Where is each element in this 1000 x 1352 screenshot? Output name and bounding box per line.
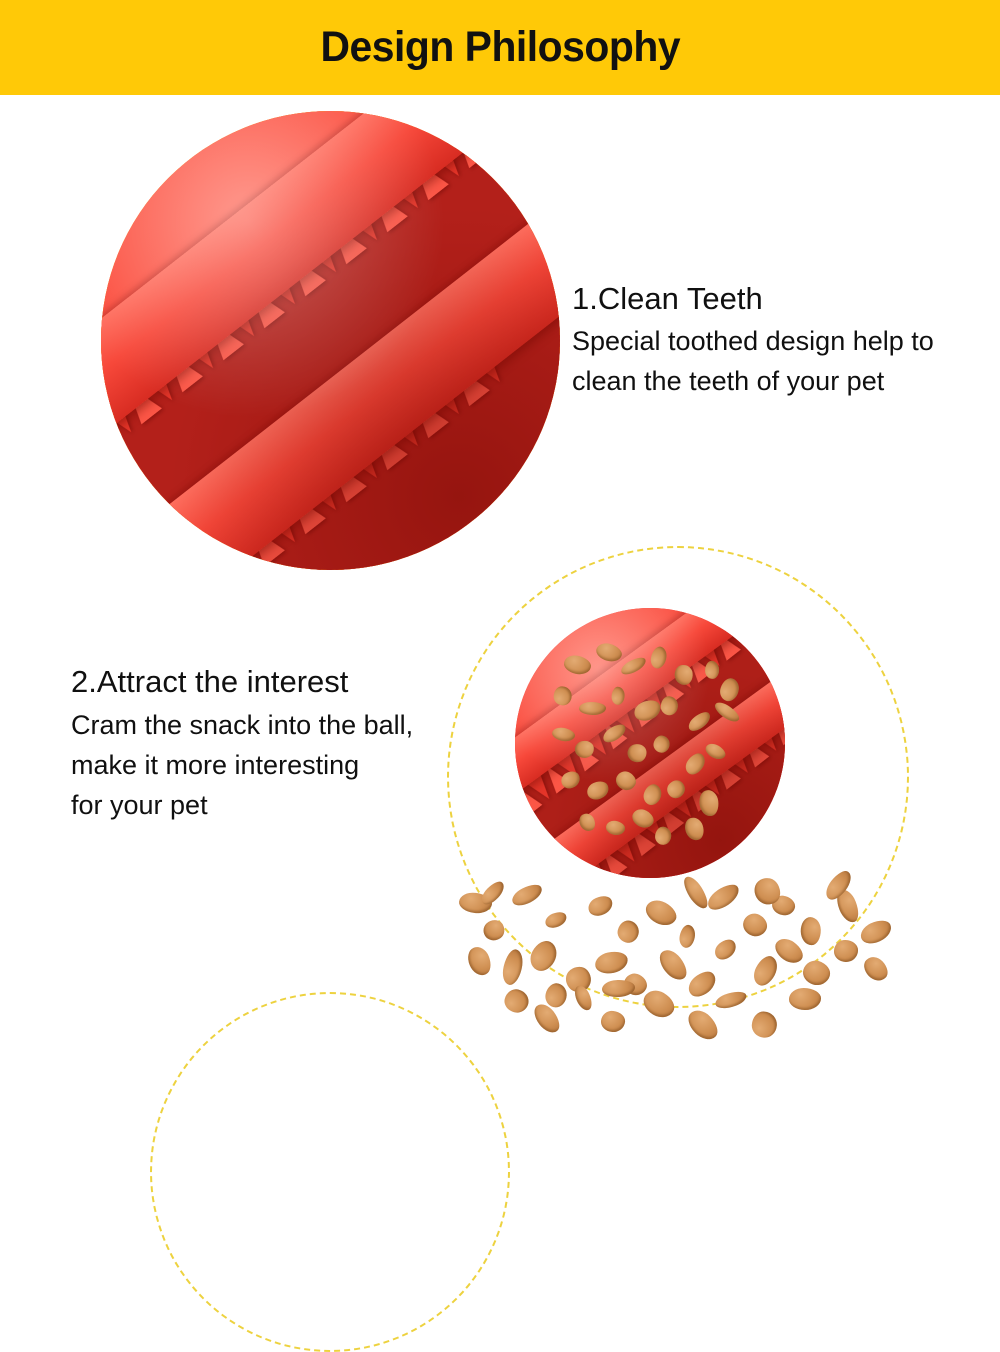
kibble-piece (604, 819, 626, 836)
kibble-piece (857, 917, 894, 948)
product-photo-clean-teeth (101, 111, 560, 570)
kibble-piece (648, 645, 668, 670)
kibble-piece (600, 1010, 626, 1034)
next-section-dashed-circle (150, 992, 510, 1352)
kibble-piece (551, 726, 576, 743)
treat-ball (515, 608, 785, 878)
feature-body: Special toothed design help to clean the… (572, 321, 992, 401)
kibble-piece (530, 1000, 564, 1037)
kibble-piece (543, 981, 569, 1009)
page-title: Design Philosophy (320, 26, 680, 69)
kibble-piece (631, 697, 663, 725)
kibble-piece (682, 815, 706, 842)
feature-body-line: Special toothed design help to (572, 321, 992, 361)
kibble-piece (600, 721, 628, 745)
kibble-piece (663, 777, 687, 801)
kibble-piece (788, 987, 820, 1009)
feature-text-attract-the-interest: 2.Attract the interest Cram the snack in… (71, 664, 471, 825)
kibble-piece (682, 750, 709, 778)
kibble-piece (629, 806, 656, 831)
feature-body-line: Cram the snack into the ball, (71, 705, 471, 745)
kibble-piece (500, 948, 526, 987)
kibble-piece (627, 743, 647, 763)
kibble-piece (655, 826, 672, 846)
feature-heading: 2.Attract the interest (71, 664, 471, 700)
kibble-piece (712, 699, 742, 725)
kibble-piece (860, 952, 892, 984)
kibble-piece (577, 811, 599, 834)
kibble-piece (718, 676, 742, 703)
product-photo-attract-the-interest (447, 546, 909, 1008)
kibble-inside-ball (515, 608, 785, 878)
feature-body: Cram the snack into the ball, make it mo… (71, 705, 471, 825)
kibble-piece (686, 708, 714, 734)
kibble-piece (641, 782, 665, 808)
kibble-piece (465, 944, 495, 979)
kibble-piece (563, 653, 594, 676)
kibble-piece (751, 1010, 777, 1038)
kibble-piece (558, 768, 582, 791)
kibble-piece (574, 739, 595, 758)
kibble-piece (502, 987, 531, 1015)
feature-heading: 1.Clean Teeth (572, 281, 992, 317)
feature-body-line: make it more interesting (71, 745, 471, 785)
feature-text-clean-teeth: 1.Clean Teeth Special toothed design hel… (572, 281, 992, 401)
kibble-piece (585, 779, 612, 804)
kibble-piece (660, 695, 679, 715)
kibble-piece (674, 664, 694, 686)
kibble-piece (554, 686, 572, 705)
kibble-piece (619, 655, 649, 678)
kibble-piece (683, 1005, 722, 1045)
kibble-piece (613, 768, 640, 793)
kibble-piece (703, 740, 728, 761)
kibble-piece (579, 701, 606, 714)
kibble-piece (594, 640, 624, 664)
kibble-piece (698, 789, 720, 818)
kibble-piece (705, 660, 719, 678)
feature-body-line: clean the teeth of your pet (572, 361, 992, 401)
kibble-piece (611, 686, 626, 705)
header-banner: Design Philosophy (0, 0, 1000, 95)
feature-body-line: for your pet (71, 785, 471, 825)
kibble-piece (652, 734, 671, 754)
